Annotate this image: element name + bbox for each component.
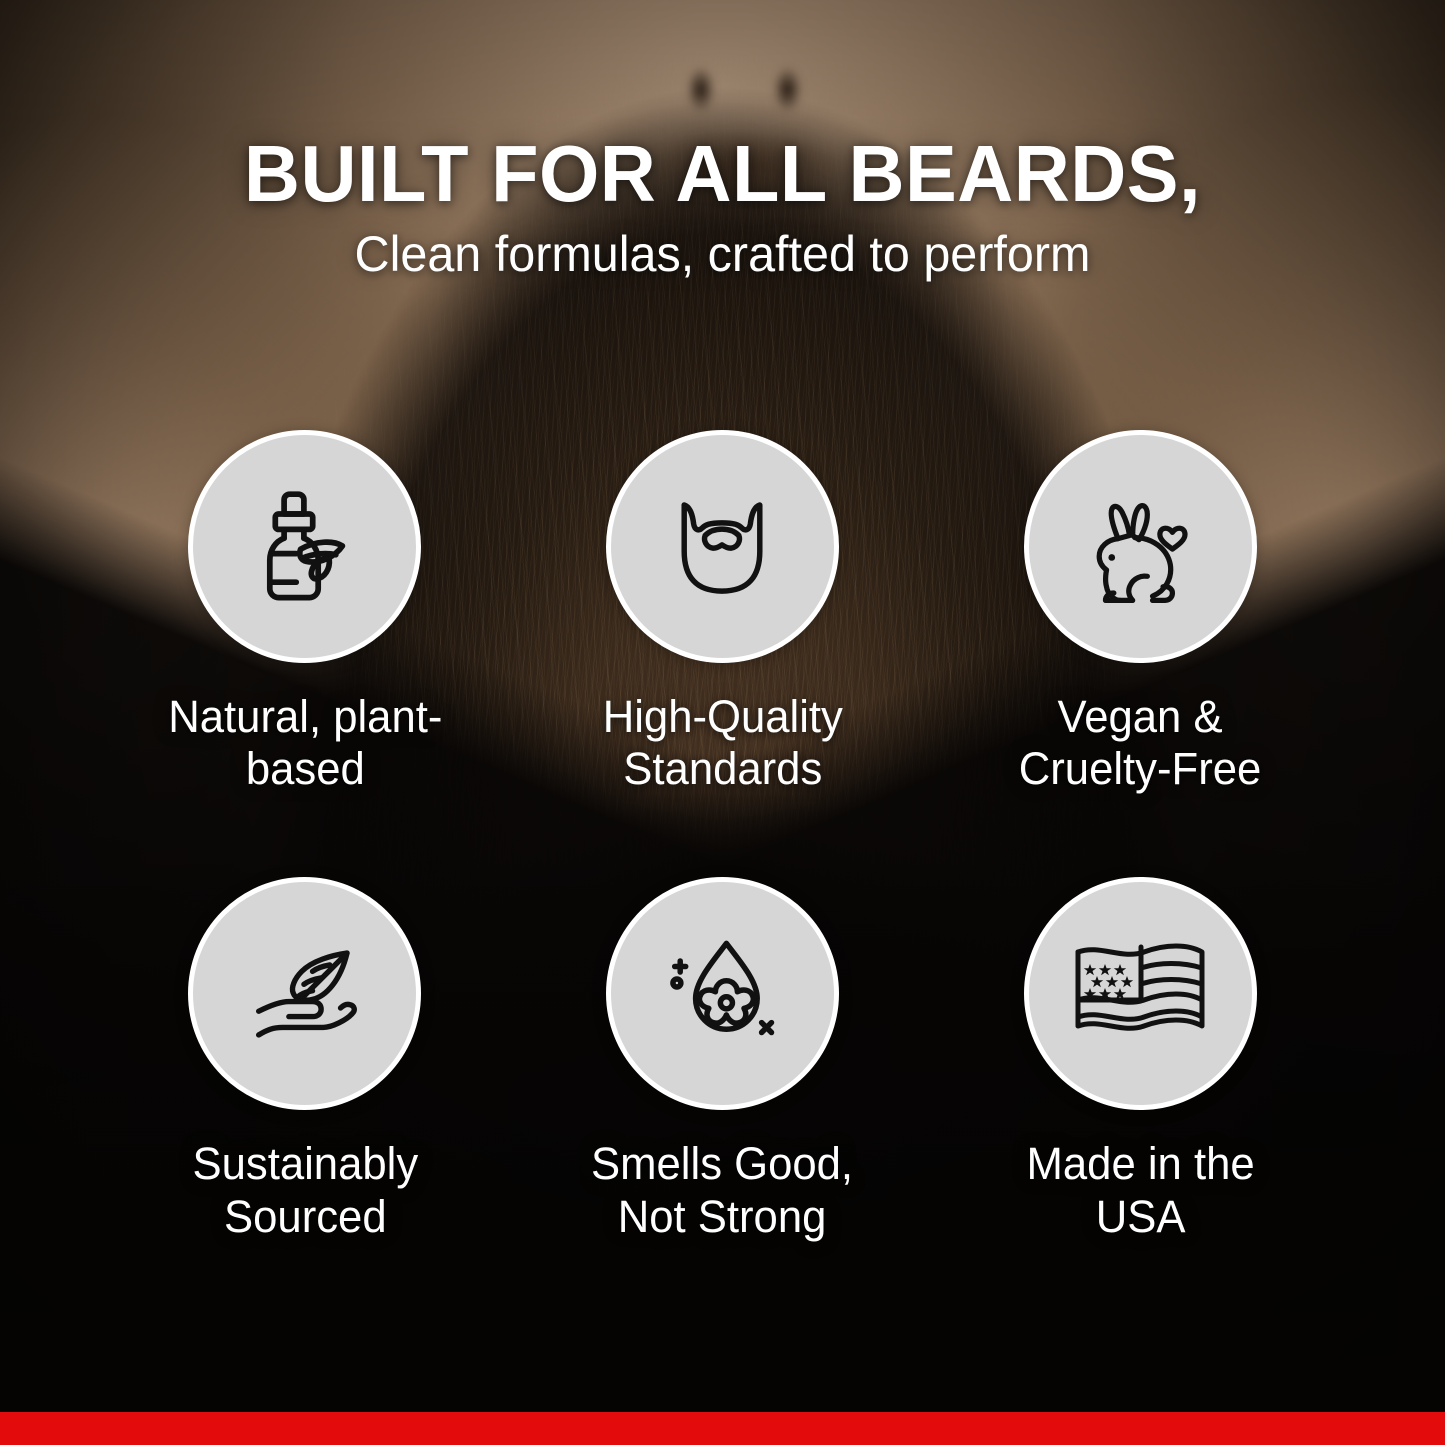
page-title: BUILT FOR ALL BEARDS,	[22, 132, 1424, 215]
droplet-flower-icon	[656, 928, 788, 1060]
hand-feather-icon	[235, 924, 375, 1064]
feature-label: Sustainably Sourced	[192, 1138, 418, 1242]
feature-item-vegan-cruelty-free: Vegan & Cruelty-Free	[931, 430, 1349, 795]
feature-item-natural-plant-based: Natural, plant- based	[96, 430, 514, 795]
usa-flag-icon	[1070, 935, 1210, 1053]
feature-item-made-in-the-usa: Made in the USA	[931, 877, 1349, 1242]
feature-badge	[1024, 877, 1257, 1110]
feature-badge	[606, 877, 839, 1110]
beard-icon	[659, 484, 785, 610]
header-block: BUILT FOR ALL BEARDS, Clean formulas, cr…	[0, 132, 1445, 282]
feature-badge	[188, 430, 421, 663]
dropper-bottle-leaf-icon	[239, 481, 371, 613]
feature-item-smells-good-not-strong: Smells Good, Not Strong	[514, 877, 932, 1242]
page-subtitle: Clean formulas, crafted to perform	[22, 227, 1424, 282]
accent-bar-bottom	[0, 1412, 1445, 1445]
feature-badge	[606, 430, 839, 663]
feature-label: High-Quality Standards	[602, 691, 842, 795]
feature-label: Vegan & Cruelty-Free	[1019, 691, 1262, 795]
feature-label: Made in the USA	[1026, 1138, 1254, 1242]
feature-item-sustainably-sourced: Sustainably Sourced	[96, 877, 514, 1242]
feature-label: Smells Good, Not Strong	[591, 1138, 853, 1242]
feature-item-high-quality-standards: High-Quality Standards	[514, 430, 932, 795]
feature-grid: Natural, plant- based High-Quality Stand…	[96, 430, 1349, 1243]
feature-label: Natural, plant- based	[168, 691, 442, 795]
rabbit-heart-icon	[1072, 479, 1208, 615]
promo-banner: BUILT FOR ALL BEARDS, Clean formulas, cr…	[0, 0, 1445, 1445]
feature-badge	[1024, 430, 1257, 663]
feature-badge	[188, 877, 421, 1110]
